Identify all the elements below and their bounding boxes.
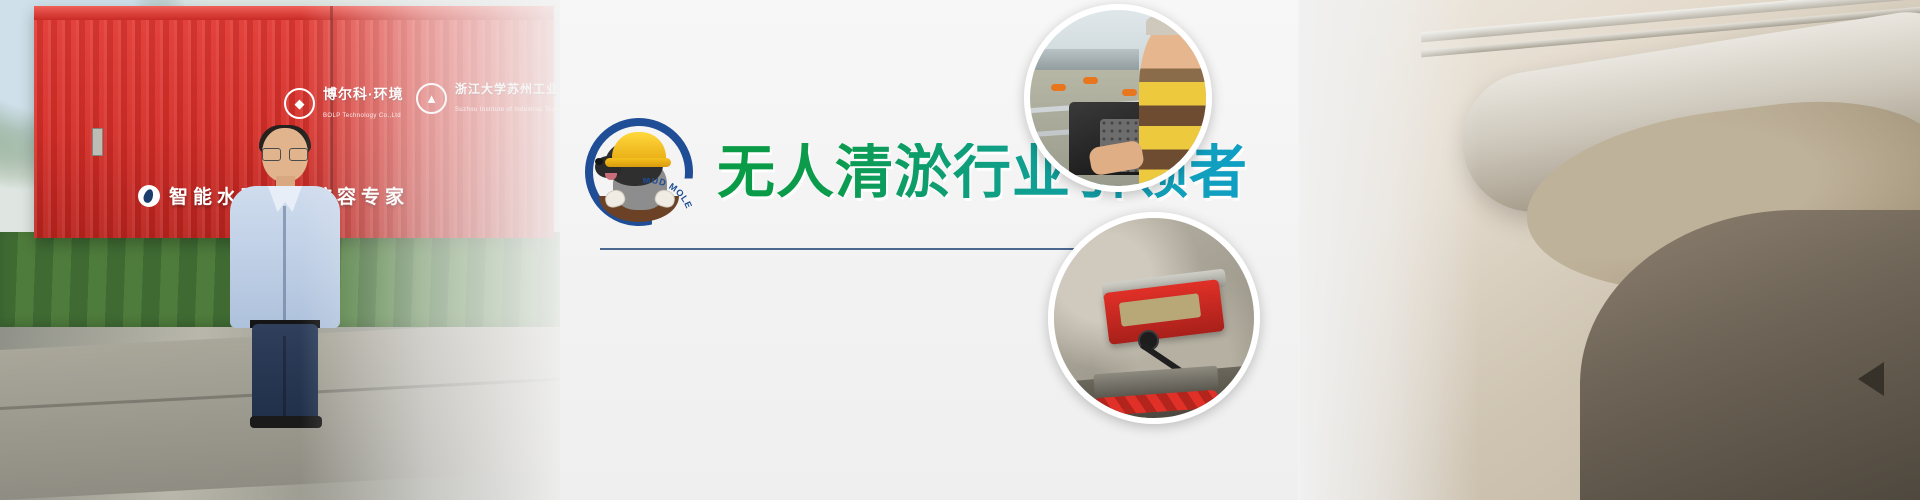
brand-zju: ▲ 浙江大学苏州工业技术研究院 Suzhou Institute of Indu…: [416, 80, 560, 116]
brand-zju-cn: 浙江大学苏州工业技术研究院: [455, 82, 560, 96]
arrow-icon: [1858, 362, 1884, 396]
logo-arc-label: MUD MOLE: [642, 178, 694, 210]
engineer-person: [226, 128, 344, 418]
shield-icon: ◆: [284, 88, 315, 119]
hero-banner: ◆ 博尔科·环境 BOLP Technology Co.,Ltd ▲ 浙江大学苏…: [0, 0, 1920, 500]
svg-text:MUD MOLE: MUD MOLE: [642, 178, 694, 210]
droplet-icon: [138, 185, 160, 207]
container-top-rail: [34, 6, 554, 20]
crest-icon: ▲: [416, 83, 447, 114]
logo-arc-text: MUD MOLE: [639, 178, 695, 224]
divider-line: [600, 248, 1100, 250]
mole-nose: [595, 158, 603, 165]
mud-mole-logo: MUD MOLE: [585, 118, 693, 226]
brand-bolp-cn: 博尔科·环境: [323, 86, 404, 102]
glasses-icon: [262, 148, 308, 159]
left-photo: ◆ 博尔科·环境 BOLP Technology Co.,Ltd ▲ 浙江大学苏…: [0, 0, 560, 500]
float-buoy: [1051, 84, 1066, 91]
hard-hat-brim: [605, 158, 671, 167]
float-buoy: [1122, 89, 1137, 96]
brand-zju-en: Suzhou Institute of Industrial Technolog…: [455, 107, 560, 113]
red-dredging-robot-photo: [1048, 212, 1260, 424]
operator-with-remote-controller-photo: [1024, 4, 1212, 192]
brand-bolp-en: BOLP Technology Co.,Ltd: [323, 113, 401, 119]
person-shoes: [250, 416, 322, 428]
container-latch: [92, 128, 103, 156]
right-photo-fade: [1300, 0, 1480, 500]
person-placket: [283, 206, 286, 324]
operator-cap: [1146, 14, 1199, 35]
brand-bolp: ◆ 博尔科·环境 BOLP Technology Co.,Ltd: [284, 84, 404, 122]
float-buoy: [1083, 77, 1098, 84]
person-trousers: [252, 324, 318, 420]
right-photo-sludge-pipe: [1300, 0, 1920, 500]
operator-person: [1139, 21, 1212, 190]
